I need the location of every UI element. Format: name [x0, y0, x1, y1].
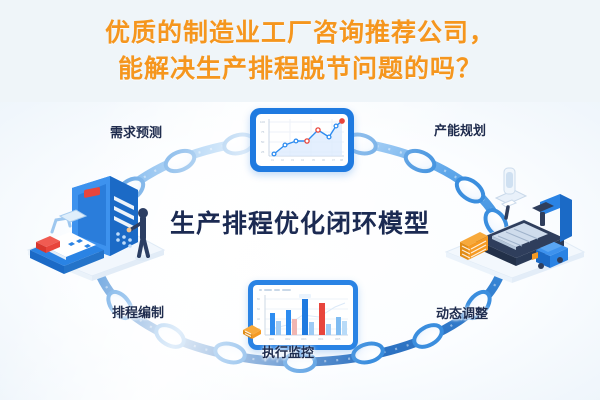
document-stack-icon	[241, 322, 263, 342]
svg-text:25: 25	[261, 150, 265, 154]
monitor-device: 8060 4020	[248, 280, 358, 350]
svg-text:80: 80	[257, 297, 260, 301]
svg-text:04: 04	[301, 158, 304, 162]
svg-text:02: 02	[281, 158, 284, 162]
svg-text:03: 03	[291, 158, 294, 162]
svg-text:0001: 0001	[269, 338, 275, 341]
header-band: 优质的制造业工厂咨询推荐公司， 能解决生产排程脱节问题的吗？	[0, 0, 600, 102]
svg-text:75: 75	[261, 130, 265, 134]
svg-text:0005: 0005	[335, 338, 341, 341]
diagram-body: 10075 5025 0102 0304 0506 0708	[0, 100, 600, 400]
headline-line-2: 能解决生产排程脱节问题的吗？	[118, 51, 482, 87]
svg-text:01: 01	[271, 158, 274, 162]
tablet-device: 10075 5025 0102 0304 0506 0708	[250, 108, 354, 172]
infographic-canvas: 优质的制造业工厂咨询推荐公司， 能解决生产排程脱节问题的吗？	[0, 0, 600, 400]
svg-text:0002: 0002	[285, 338, 291, 341]
svg-text:05: 05	[312, 158, 315, 162]
node-label-execution-monitoring[interactable]: 执行监控	[262, 342, 314, 361]
line-chart: 10075 5025 0102 0304 0506 0708	[256, 114, 348, 166]
svg-text:06: 06	[322, 158, 325, 162]
svg-text:50: 50	[261, 140, 265, 144]
svg-text:07: 07	[332, 158, 335, 162]
node-label-schedule-creation[interactable]: 排程编制	[112, 302, 164, 321]
tablet-screen: 10075 5025 0102 0304 0506 0708	[256, 114, 348, 166]
node-label-demand-forecast[interactable]: 需求预测	[110, 122, 162, 141]
monitor-screen: 8060 4020	[253, 285, 353, 345]
cnc-machine-illustration	[436, 162, 594, 290]
svg-text:08: 08	[340, 158, 343, 162]
factory-machine-illustration	[12, 158, 172, 288]
svg-text:40: 40	[257, 317, 260, 321]
bar-chart: 8060 4020	[253, 285, 353, 345]
svg-text:60: 60	[257, 307, 260, 311]
svg-text:0004: 0004	[318, 338, 324, 341]
svg-text:0003: 0003	[301, 338, 307, 341]
node-label-dynamic-adjustment[interactable]: 动态调整	[436, 303, 488, 322]
svg-text:100: 100	[260, 120, 265, 124]
headline-line-1: 优质的制造业工厂咨询推荐公司，	[105, 15, 495, 51]
node-label-capacity-planning[interactable]: 产能规划	[434, 120, 486, 139]
